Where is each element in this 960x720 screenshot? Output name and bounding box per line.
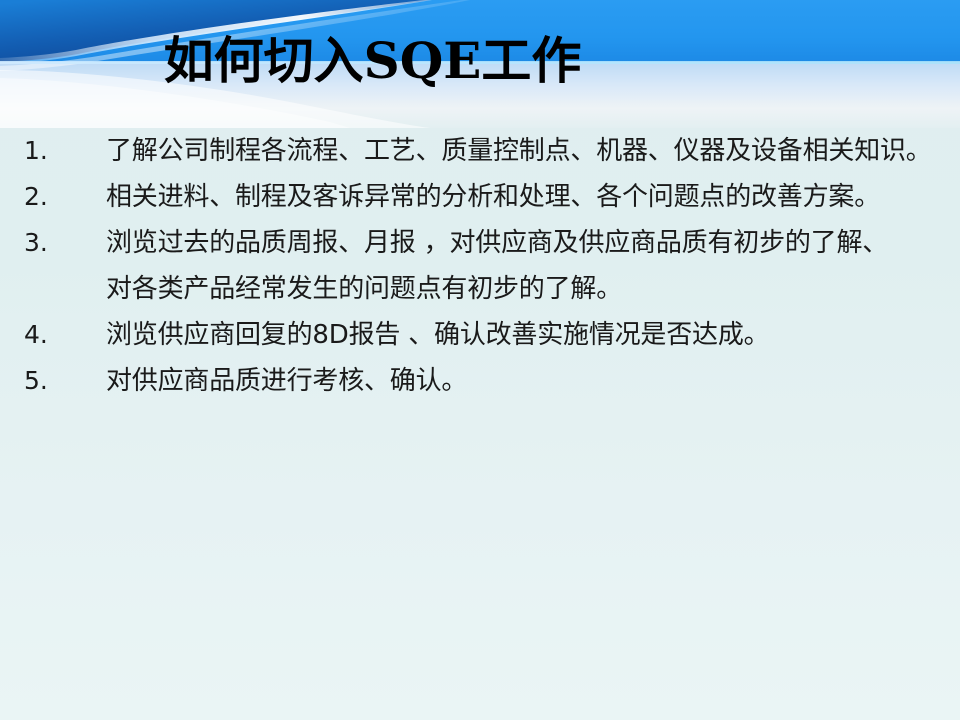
- page-title: 如何切入SQE工作: [0, 26, 960, 96]
- list-item: 1. 了解公司制程各流程、工艺、质量控制点、机器、仪器及设备相关知识。: [0, 128, 960, 174]
- list-item: 2. 相关进料、制程及客诉异常的分析和处理、各个问题点的改善方案。: [0, 174, 960, 220]
- list-item-number: 5.: [0, 358, 84, 404]
- list-item-number: 1.: [0, 128, 84, 174]
- list-item-text: 相关进料、制程及客诉异常的分析和处理、各个问题点的改善方案。: [84, 174, 960, 220]
- list-item-text: 对各类产品经常发生的问题点有初步的了解。: [84, 266, 960, 312]
- list-item: 5. 对供应商品质进行考核、确认。: [0, 358, 960, 404]
- list-item-number: 3.: [0, 220, 84, 266]
- list-item: 3. 浏览过去的品质周报、月报 ，对供应商及供应商品质有初步的了解、: [0, 220, 960, 266]
- list-item-continuation: 对各类产品经常发生的问题点有初步的了解。: [0, 266, 960, 312]
- list-item-number: 4.: [0, 312, 84, 358]
- presentation-slide: 如何切入SQE工作 1. 了解公司制程各流程、工艺、质量控制点、机器、仪器及设备…: [0, 0, 960, 720]
- list-item-text: 浏览供应商回复的8D报告 、确认改善实施情况是否达成。: [84, 312, 960, 358]
- list-item-text: 了解公司制程各流程、工艺、质量控制点、机器、仪器及设备相关知识。: [84, 128, 960, 174]
- list-item: 4. 浏览供应商回复的8D报告 、确认改善实施情况是否达成。: [0, 312, 960, 358]
- list-item-number: 2.: [0, 174, 84, 220]
- content-list: 1. 了解公司制程各流程、工艺、质量控制点、机器、仪器及设备相关知识。 2. 相…: [0, 128, 960, 404]
- list-item-text: 对供应商品质进行考核、确认。: [84, 358, 960, 404]
- list-item-text: 浏览过去的品质周报、月报 ，对供应商及供应商品质有初步的了解、: [84, 220, 960, 266]
